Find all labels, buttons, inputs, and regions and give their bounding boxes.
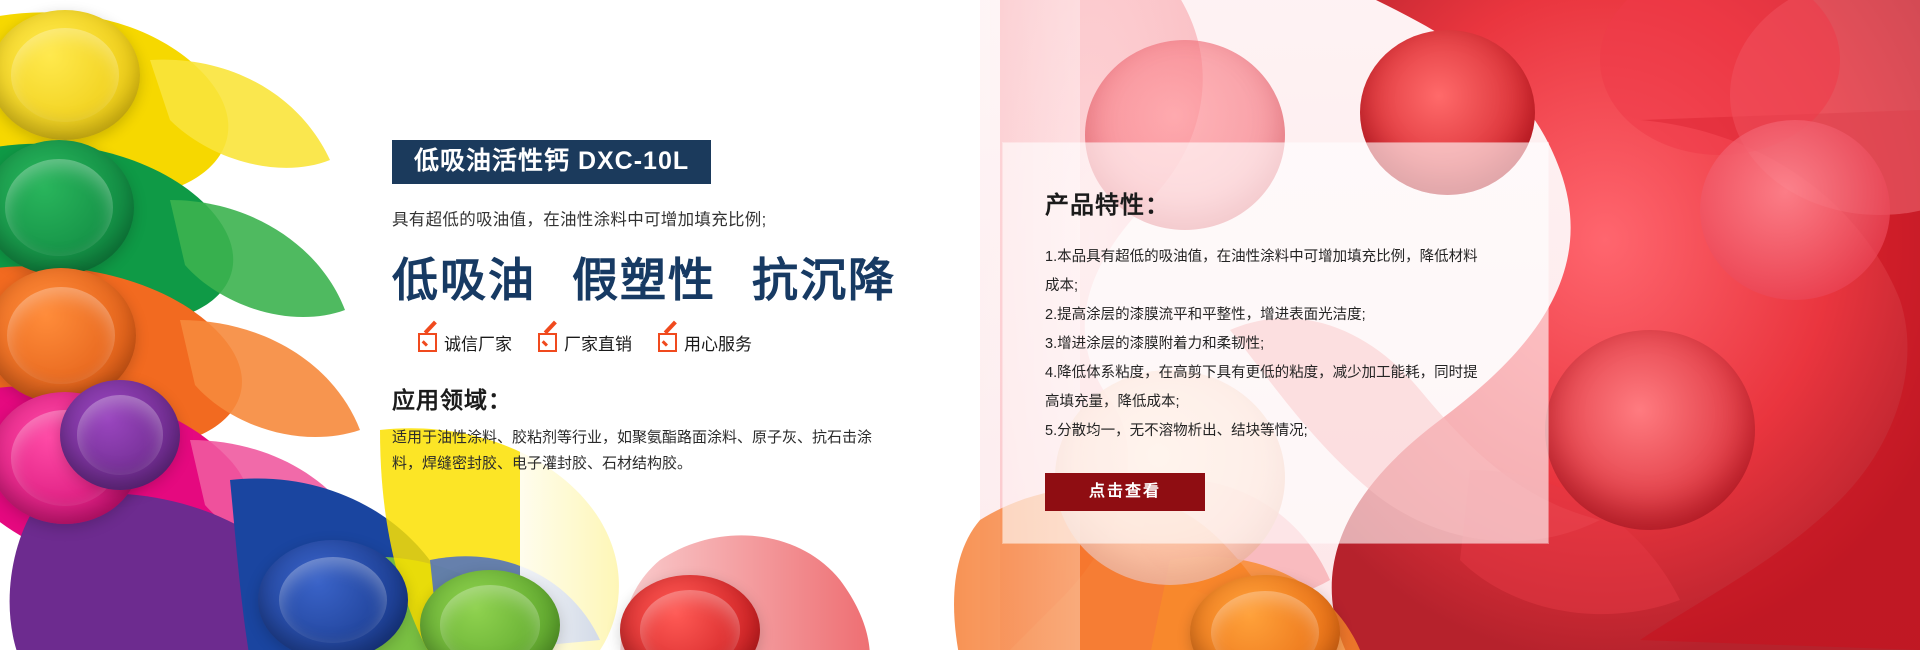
feature-badges: 诚信厂家 厂家直销 用心服务 bbox=[392, 330, 952, 355]
paint-pool-rose bbox=[1700, 120, 1890, 300]
application-heading: 应用领域： bbox=[392, 381, 952, 415]
left-content: 低吸油活性钙 DXC-10L 具有超低的吸油值，在油性涂料中可增加填充比例; 低… bbox=[392, 140, 952, 478]
feature-label-3: 用心服务 bbox=[684, 330, 752, 355]
paint-can-blue bbox=[258, 540, 408, 650]
headline: 低吸油假塑性抗沉降 bbox=[392, 244, 952, 310]
feature-badge-3: 用心服务 bbox=[658, 330, 752, 355]
checkbox-check-icon bbox=[538, 333, 557, 352]
feature-badge-2: 厂家直销 bbox=[538, 330, 632, 355]
feature-badge-1: 诚信厂家 bbox=[418, 330, 512, 355]
feature-item: 5.分散均一，无不溶物析出、结块等情况; bbox=[1045, 417, 1510, 446]
feature-item: 4.降低体系粘度，在高剪下具有更低的粘度，减少加工能耗，同时提 bbox=[1045, 359, 1510, 388]
headline-word-1: 低吸油 bbox=[392, 255, 536, 306]
view-details-button[interactable]: 点击查看 bbox=[1045, 473, 1205, 511]
feature-item: 1.本品具有超低的吸油值，在油性涂料中可增加填充比例，降低材料 bbox=[1045, 243, 1510, 272]
product-title-bar: 低吸油活性钙 DXC-10L bbox=[392, 140, 711, 184]
feature-label-2: 厂家直销 bbox=[564, 330, 632, 355]
application-body: 适用于油性涂料、胶粘剂等行业，如聚氨酯路面涂料、原子灰、抗石击涂料，焊缝密封胶、… bbox=[392, 425, 892, 478]
feature-item: 成本; bbox=[1045, 272, 1510, 301]
headline-word-2: 假塑性 bbox=[572, 255, 716, 306]
paint-can-purple bbox=[60, 380, 180, 490]
checkbox-check-icon bbox=[658, 333, 677, 352]
features-list: 1.本品具有超低的吸油值，在油性涂料中可增加填充比例，降低材料 成本; 2.提高… bbox=[1045, 243, 1510, 446]
product-features-panel: 产品特性： 1.本品具有超低的吸油值，在油性涂料中可增加填充比例，降低材料 成本… bbox=[1003, 143, 1548, 543]
paint-pool-crimson bbox=[1545, 330, 1755, 530]
product-banner: 低吸油活性钙 DXC-10L 具有超低的吸油值，在油性涂料中可增加填充比例; 低… bbox=[0, 0, 1920, 650]
product-subtitle: 具有超低的吸油值，在油性涂料中可增加填充比例; bbox=[392, 206, 952, 230]
feature-label-1: 诚信厂家 bbox=[444, 330, 512, 355]
features-panel-heading: 产品特性： bbox=[1045, 185, 1170, 220]
background-artwork bbox=[0, 0, 1920, 650]
headline-word-3: 抗沉降 bbox=[752, 255, 896, 306]
checkbox-check-icon bbox=[418, 333, 437, 352]
feature-item: 3.增进涂层的漆膜附着力和柔韧性; bbox=[1045, 330, 1510, 359]
feature-item: 2.提高涂层的漆膜流平和平整性，增进表面光洁度; bbox=[1045, 301, 1510, 330]
feature-item: 高填充量，降低成本; bbox=[1045, 388, 1510, 417]
